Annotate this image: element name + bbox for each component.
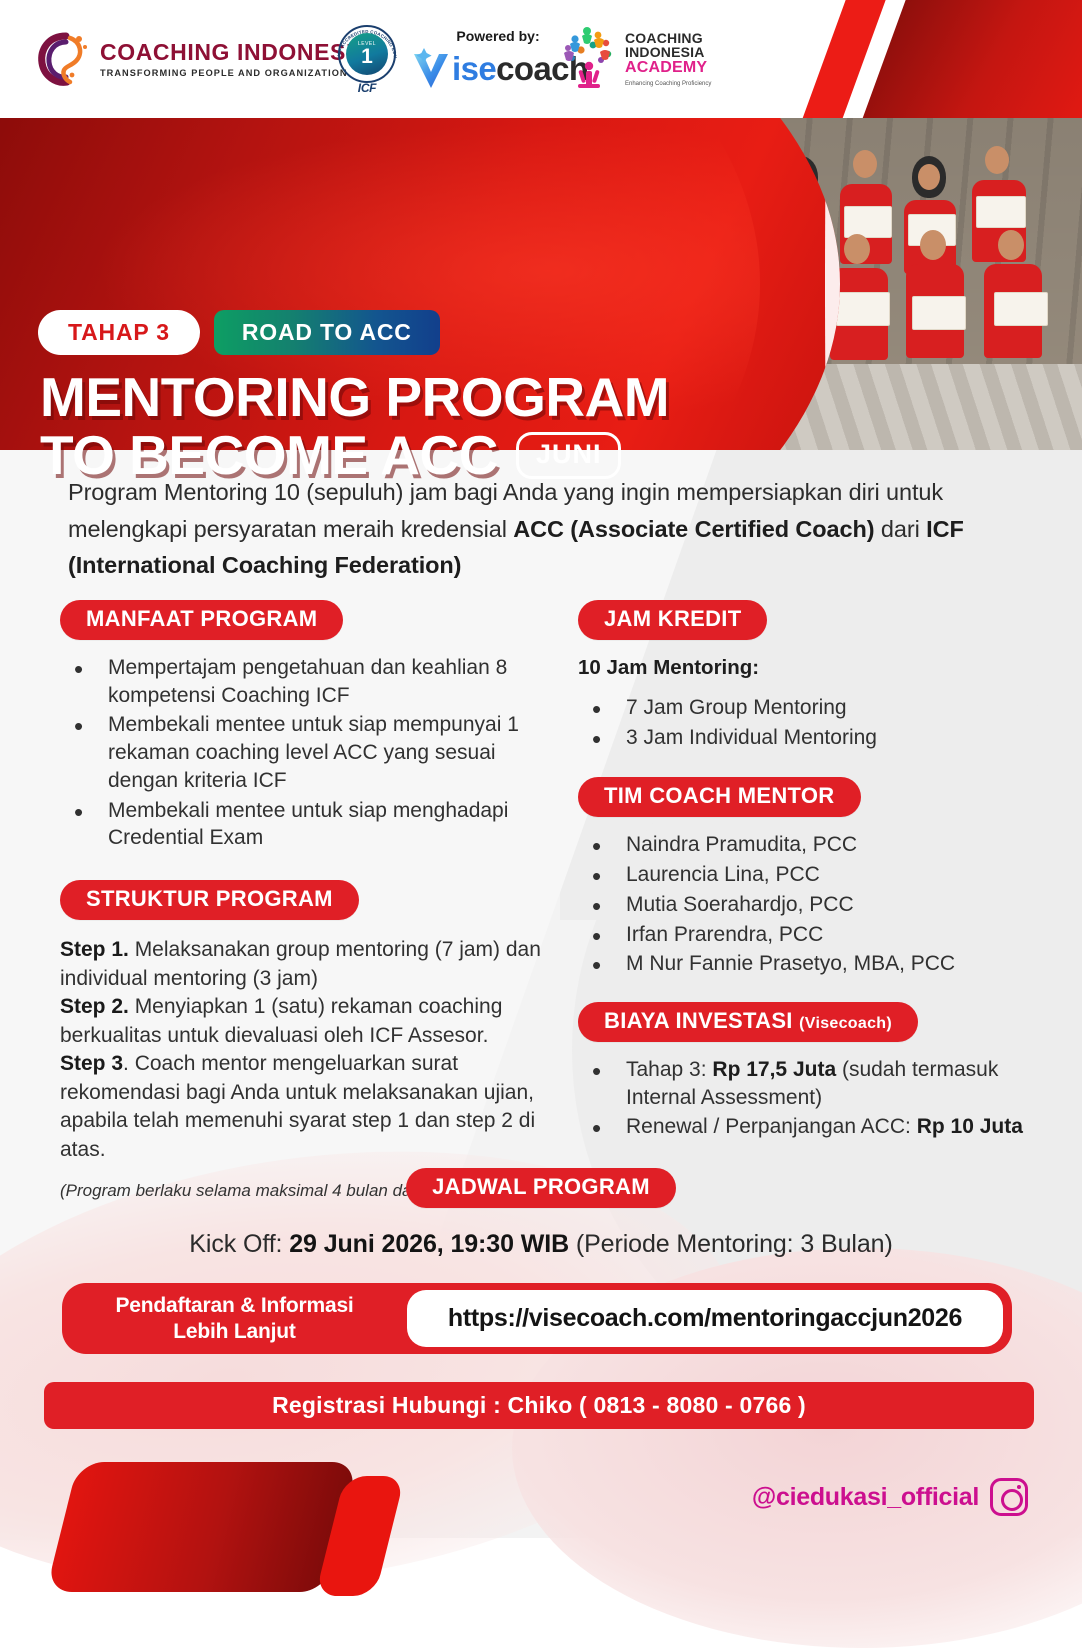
list-item: Irfan Prarendra, PCC [578, 921, 1038, 949]
intro-part2: dari [874, 516, 926, 542]
visecoach-prefix: ise [452, 52, 496, 85]
hero-title: MENTORING PROGRAM TO BECOME ACC JUNI [40, 368, 669, 485]
icf-ring: LEVEL 1 [338, 25, 396, 83]
registration-contact-bar[interactable]: Registrasi Hubungi : Chiko ( 0813 - 8080… [44, 1382, 1034, 1429]
list-item: 7 Jam Group Mentoring [578, 694, 1038, 722]
coaching-indonesia-title: COACHING INDONESIA [100, 41, 370, 64]
coaching-indonesia-logo: COACHING INDONESIA TRANSFORMING PEOPLE A… [36, 30, 370, 88]
step3-text: . Coach mentor mengeluarkan surat rekome… [60, 1052, 535, 1161]
registration-cta-bar[interactable]: Pendaftaran & Informasi Lebih Lanjut htt… [62, 1283, 1012, 1354]
hero-title-line1: MENTORING PROGRAM [40, 368, 669, 426]
badge-stage: TAHAP 3 [38, 310, 200, 355]
kickoff-bold: 29 Juni 2026, 19:30 WIB [289, 1230, 569, 1258]
left-column: MANFAAT PROGRAM Mempertajam pengetahuan … [60, 600, 560, 1203]
biaya-heading: BIAYA INVESTASI [604, 1008, 793, 1033]
kickoff-pre: Kick Off: [189, 1230, 289, 1258]
list-item: Tahap 3: Rp 17,5 Juta (sudah termasuk In… [578, 1056, 1038, 1111]
decorative-bottom-shape-large [46, 1462, 358, 1592]
list-item: M Nur Fannie Prasetyo, MBA, PCC [578, 950, 1038, 978]
step1-label: Step 1. [60, 938, 129, 961]
biaya-list: Tahap 3: Rp 17,5 Juta (sudah termasuk In… [578, 1056, 1038, 1141]
jam-kredit-subheading: 10 Jam Mentoring: [578, 656, 1038, 680]
icf-level-number: 1 [361, 46, 373, 67]
kickoff-post: (Periode Mentoring: 3 Bulan) [569, 1230, 893, 1258]
instagram-icon[interactable] [990, 1478, 1028, 1516]
struktur-heading: STRUKTUR PROGRAM [60, 880, 359, 920]
visecoach-v-icon [410, 46, 452, 90]
jadwal-heading: JADWAL PROGRAM [406, 1168, 676, 1208]
badge-track: ROAD TO ACC [214, 310, 440, 355]
cta-label-line1: Pendaftaran & Informasi [62, 1293, 407, 1319]
intro-bold1: ACC (Associate Certified Coach) [513, 516, 874, 542]
list-item: Mutia Soerahardjo, PCC [578, 891, 1038, 919]
tim-coach-list: Naindra Pramudita, PCC Laurencia Lina, P… [578, 831, 1038, 978]
hero-badge-row: TAHAP 3 ROAD TO ACC [38, 310, 440, 355]
jam-kredit-heading: JAM KREDIT [578, 600, 767, 640]
jadwal-kickoff: Kick Off: 29 Juni 2026, 19:30 WIB (Perio… [0, 1230, 1082, 1259]
right-column: JAM KREDIT 10 Jam Mentoring: 7 Jam Group… [578, 600, 1038, 1143]
cta-label: Pendaftaran & Informasi Lebih Lanjut [62, 1293, 407, 1344]
intro-paragraph: Program Mentoring 10 (sepuluh) jam bagi … [68, 474, 1008, 584]
academy-people-mark-icon [560, 26, 618, 92]
biaya-item1-bold: Rp 17,5 Juta [712, 1058, 836, 1081]
list-item: Membekali mentee untuk siap menghadapi C… [60, 797, 560, 852]
academy-line1: COACHING [625, 31, 711, 46]
registration-url[interactable]: https://visecoach.com/mentoringaccjun202… [407, 1290, 1003, 1347]
instagram-handle-group[interactable]: @ciedukasi_official [752, 1478, 1028, 1516]
hero-banner: TAHAP 3 ROAD TO ACC MENTORING PROGRAM TO… [0, 118, 1082, 450]
jadwal-section: JADWAL PROGRAM Kick Off: 29 Juni 2026, 1… [0, 1168, 1082, 1259]
step3-label: Step 3 [60, 1052, 123, 1075]
coaching-indonesia-mark-icon [36, 30, 92, 88]
biaya-heading-paren: (Visecoach) [799, 1015, 892, 1032]
icf-level-disc: LEVEL 1 [346, 33, 388, 75]
step1-text: Melaksanakan group mentoring (7 jam) dan… [60, 938, 541, 990]
biaya-item2-pre: Renewal / Perpanjangan ACC: [626, 1115, 917, 1138]
manfaat-heading: MANFAAT PROGRAM [60, 600, 343, 640]
list-item: Renewal / Perpanjangan ACC: Rp 10 Juta [578, 1113, 1038, 1141]
list-item: Naindra Pramudita, PCC [578, 831, 1038, 859]
list-item: 3 Jam Individual Mentoring [578, 724, 1038, 752]
academy-line2: INDONESIA [625, 45, 711, 60]
list-item: Mempertajam pengetahuan dan keahlian 8 k… [60, 654, 560, 709]
cta-label-line2: Lebih Lanjut [62, 1319, 407, 1345]
manfaat-list: Mempertajam pengetahuan dan keahlian 8 k… [60, 654, 560, 852]
header-logo-bar: COACHING INDONESIA TRANSFORMING PEOPLE A… [0, 0, 1082, 118]
list-item: Membekali mentee untuk siap mempunyai 1 … [60, 711, 560, 794]
coaching-indonesia-tagline: TRANSFORMING PEOPLE AND ORGANIZATION [100, 68, 370, 78]
coaching-indonesia-academy-logo: COACHING INDONESIA ACADEMY Enhancing Coa… [560, 26, 711, 92]
jam-kredit-list: 7 Jam Group Mentoring 3 Jam Individual M… [578, 694, 1038, 751]
step2-label: Step 2. [60, 995, 129, 1018]
icf-accreditation-badge: ICF ACCREDITED COACHING EDUCATION LEVEL … [334, 25, 400, 95]
biaya-item2-bold: Rp 10 Juta [917, 1115, 1023, 1138]
list-item: Laurencia Lina, PCC [578, 861, 1038, 889]
tim-coach-heading: TIM COACH MENTOR [578, 777, 861, 817]
powered-by-label: Powered by: [418, 28, 578, 44]
academy-line3: ACADEMY [625, 60, 711, 77]
hero-month-pill: JUNI [516, 432, 622, 479]
struktur-steps: Step 1. Melaksanakan group mentoring (7 … [60, 936, 560, 1164]
biaya-item1-pre: Tahap 3: [626, 1058, 712, 1081]
icf-org-label: ICF [334, 81, 400, 95]
academy-tagline: Enhancing Coaching Proficiency [625, 81, 711, 87]
instagram-handle[interactable]: @ciedukasi_official [752, 1483, 979, 1512]
biaya-heading-pill: BIAYA INVESTASI (Visecoach) [578, 1002, 918, 1042]
